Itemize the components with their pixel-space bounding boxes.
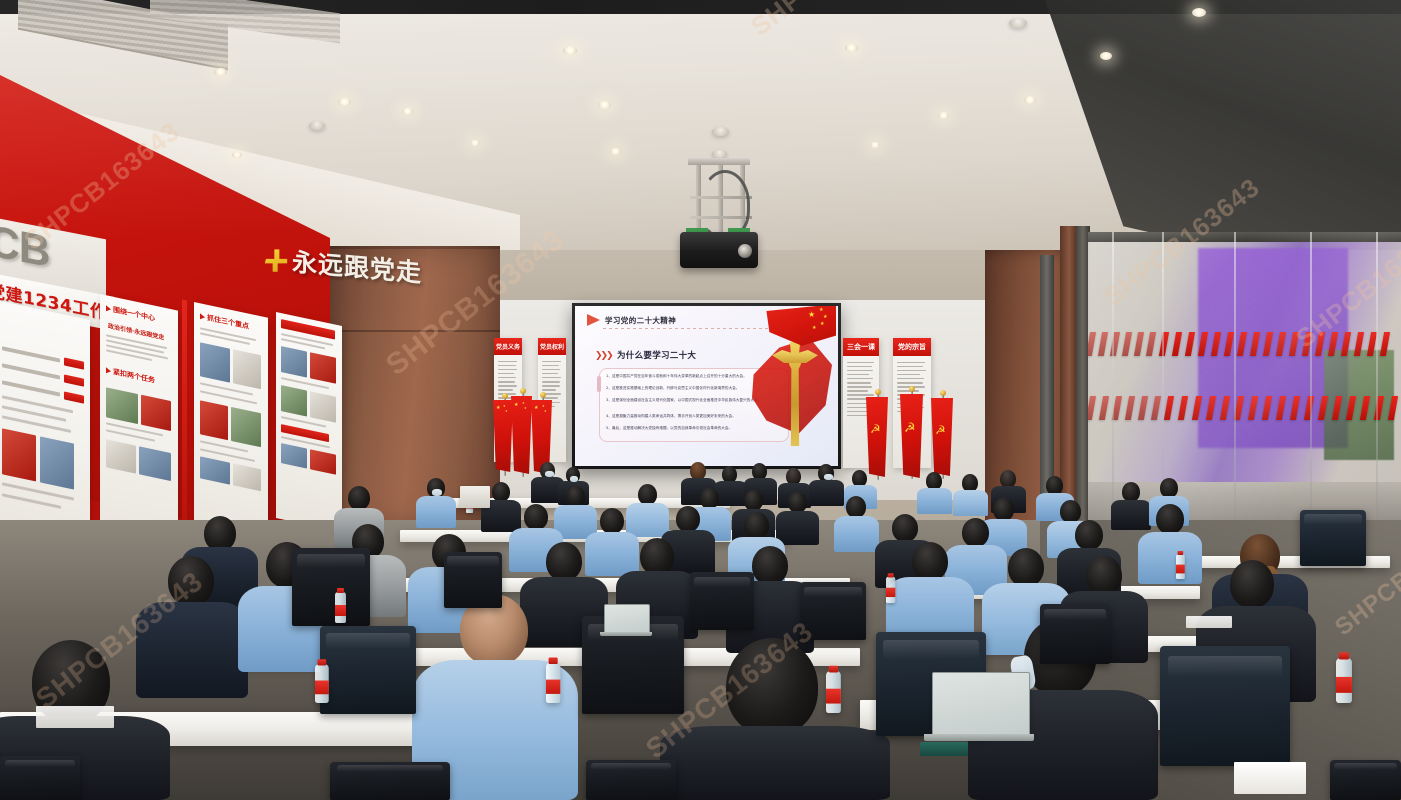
attendee-head (1122, 482, 1140, 502)
projection-screen[interactable]: 学习党的二十大精神 ❯❯❯ 为什么要学习二十大 1、这是中国共产党在百年奋斗成就… (575, 306, 838, 466)
paper-document[interactable] (36, 706, 114, 728)
wood-panel-seam (330, 330, 500, 332)
smoke-detector-icon (1009, 18, 1027, 28)
board-photo (310, 391, 336, 423)
slide-bullet: 4、这是凝聚力量推动构建人类命运共同体、携手开创人类更加美好未来的大会。 (606, 414, 778, 419)
face-mask (545, 471, 554, 477)
board-heading: 围绕一个中心 (113, 305, 155, 324)
attendee-head (204, 516, 236, 551)
board-photo (231, 407, 261, 447)
downlight-icon (563, 46, 577, 55)
board-photo (233, 349, 261, 389)
attendee-head (546, 542, 582, 581)
board-photo (200, 456, 230, 484)
attendee-body (953, 490, 988, 516)
water-bottle[interactable] (546, 663, 560, 703)
attendee-head (744, 512, 769, 539)
chip-row-label (2, 346, 60, 362)
attendee-body (776, 511, 819, 545)
downlight-icon (214, 68, 227, 76)
chip-row-label (2, 380, 60, 396)
slide-content-tab (597, 376, 601, 392)
board-photo (141, 395, 171, 431)
attendee-head (1156, 504, 1184, 534)
slide-bullet: 1、这是中国共产党在百年奋斗成就和十年伟大变革的新起点上召开的十分重大的大会。 (606, 374, 778, 379)
attendee-head (1060, 500, 1081, 523)
banner-row-upper (1088, 332, 1401, 358)
projection-screen-frame: 学习党的二十大精神 ❯❯❯ 为什么要学习二十大 1、这是中国共产党在百年奋斗成就… (572, 303, 841, 469)
downlight-icon (598, 101, 611, 109)
face-mask (570, 476, 578, 482)
chip-row-chip (64, 357, 84, 369)
water-bottle[interactable] (1336, 658, 1352, 703)
projector-lens-icon (738, 244, 752, 258)
downlight-icon (610, 148, 621, 155)
downlight-icon (1192, 8, 1206, 17)
board-photo (106, 439, 136, 473)
attendee-head (1086, 556, 1122, 595)
paper-document[interactable] (1186, 616, 1232, 628)
glass-top-rail (1088, 232, 1401, 242)
downlight-icon (232, 152, 242, 158)
board-1-red-stripe (182, 299, 187, 544)
glass-mullion (1376, 232, 1378, 562)
meeting-chair[interactable] (444, 552, 502, 608)
attendee-body (416, 496, 456, 528)
attendee-head (1230, 560, 1274, 608)
attendee-head (752, 546, 788, 585)
downlight-icon (1100, 52, 1112, 60)
meeting-room-photo: 学习党的二十大精神 ❯❯❯ 为什么要学习二十大 1、这是中国共产党在百年奋斗成就… (0, 0, 1401, 800)
paper-stack[interactable] (460, 486, 490, 508)
attendee-body (136, 602, 248, 698)
attendee-head (524, 504, 548, 530)
laptop-base[interactable] (600, 632, 652, 636)
smoke-detector-icon (309, 121, 325, 130)
attendee-body (1138, 532, 1202, 584)
meeting-chair[interactable] (1330, 760, 1401, 800)
board-photo (2, 428, 36, 481)
attendee-head (892, 514, 918, 542)
meeting-chair[interactable] (292, 548, 370, 626)
slide-bullet: 2、这是推进实践基础上的理论创新、开辟马克思主义中国化时代化新境界的大会。 (606, 386, 778, 391)
chip-row-chip (64, 374, 84, 386)
meeting-chair[interactable] (330, 762, 450, 800)
attendee-head (846, 496, 866, 518)
attendee-head (993, 498, 1014, 521)
board-photo (281, 346, 307, 378)
wall-board-3 (276, 312, 342, 532)
attendee-head (640, 538, 674, 575)
water-bottle[interactable] (886, 577, 895, 603)
water-bottle[interactable] (826, 671, 841, 713)
info-panel-title: 党的宗旨 (893, 338, 931, 356)
board-bullet-icon (106, 305, 111, 312)
board-bullet-icon (200, 313, 205, 320)
slide-bullet: 5、最后，这是推动解决大党独有难题、以党的自我革命引领社会革命的大会。 (606, 426, 778, 431)
attendee-head (726, 638, 818, 736)
attendee-head (168, 556, 214, 606)
glass-mullion (1234, 232, 1236, 562)
board-photo (40, 436, 74, 489)
party-flag: ☭ (931, 398, 953, 476)
face-mask (432, 489, 442, 496)
attendee-body (714, 481, 747, 506)
info-panel-title: 党员权利 (538, 338, 566, 355)
slide-subtitle: 为什么要学习二十大 (617, 349, 696, 361)
board-bullet-icon (106, 367, 111, 374)
laptop-screen[interactable] (604, 604, 650, 633)
attendee-head (788, 492, 807, 513)
meeting-chair[interactable] (800, 582, 866, 640)
downlight-icon (1024, 96, 1036, 104)
board-photo (139, 446, 171, 481)
chip-row-label (2, 363, 60, 379)
chinese-flag-icon: ★ ★ ★ ★ ★ (762, 306, 836, 348)
smoke-detector-icon (712, 150, 727, 158)
attendee-head (676, 506, 700, 532)
attendee-head (566, 486, 585, 507)
board-photo (233, 463, 261, 491)
board-heading: 紧扣两个任务 (113, 367, 155, 386)
projector-ceiling-mount (688, 158, 750, 165)
attendee-head (1160, 478, 1178, 498)
attendee-body (585, 532, 639, 576)
info-panel-title: 党员义务 (494, 338, 522, 355)
attendee-head (348, 486, 370, 510)
downlight-icon (470, 140, 480, 146)
slide-chevron-icon: ❯❯❯ (595, 350, 612, 361)
board-photo (106, 387, 138, 424)
party-flag: ☭ (866, 397, 888, 477)
downlight-icon (845, 44, 858, 52)
paper-document[interactable] (1234, 762, 1306, 794)
face-mask (824, 474, 833, 480)
smoke-detector-icon (712, 127, 729, 136)
meeting-chair[interactable] (690, 572, 754, 630)
party-flag: ☭ (900, 394, 923, 478)
water-bottle[interactable] (315, 664, 329, 703)
board-photo (281, 385, 307, 417)
laptop-screen[interactable] (932, 672, 1030, 735)
meeting-chair[interactable] (1300, 510, 1366, 566)
slide-title-marker-icon (587, 314, 600, 326)
meeting-chair[interactable] (1040, 604, 1110, 664)
banner-row-lower (1088, 396, 1401, 422)
info-panel-title: 三会一课 (843, 338, 879, 356)
attendee-body (1111, 500, 1151, 530)
attendee-body (809, 480, 844, 506)
attendee-head (744, 490, 763, 511)
slide-title: 学习党的二十大精神 (605, 315, 676, 326)
board-photo (200, 342, 230, 382)
board-photo (310, 449, 336, 475)
attendee-head (492, 482, 510, 502)
attendee-head (700, 488, 719, 509)
attendee-head (638, 484, 657, 505)
meeting-chair[interactable] (1160, 646, 1290, 766)
attendee-head (1075, 520, 1103, 550)
slide-bullet: 3、这是谋划全面建设社会主义现代化国家、以中国式现代化全面推进中华民族伟大复兴的… (606, 398, 778, 403)
attendee-body (917, 488, 952, 514)
attendee-body (626, 503, 669, 537)
downlight-icon (402, 108, 413, 115)
wall-board-2: 抓住三个重点 (194, 302, 268, 550)
chinese-flag: ★ ★ ★ (493, 400, 513, 472)
meeting-chair[interactable] (320, 626, 416, 714)
downlight-icon (338, 98, 351, 106)
board-photo (200, 400, 228, 440)
meeting-chair[interactable] (586, 760, 676, 800)
board-photo (310, 352, 336, 384)
downlight-icon (870, 142, 880, 148)
attendee-head (912, 542, 948, 581)
water-bottle[interactable] (1176, 554, 1185, 579)
attendee-body (834, 516, 879, 552)
attendee-head (600, 508, 624, 534)
attendee-head (962, 518, 989, 547)
attendee-body (660, 726, 890, 800)
board-heading: 抓住三个重点 (207, 313, 249, 332)
water-bottle[interactable] (335, 592, 346, 623)
meeting-chair[interactable] (0, 756, 80, 800)
downlight-icon (938, 112, 949, 119)
attendee-head (1008, 548, 1044, 587)
notebook[interactable] (920, 742, 968, 756)
chip-row-chip (64, 391, 84, 403)
chinese-flag: ★ ★ ★ (511, 396, 532, 474)
laptop-base[interactable] (924, 734, 1034, 741)
board-photo (281, 443, 307, 469)
